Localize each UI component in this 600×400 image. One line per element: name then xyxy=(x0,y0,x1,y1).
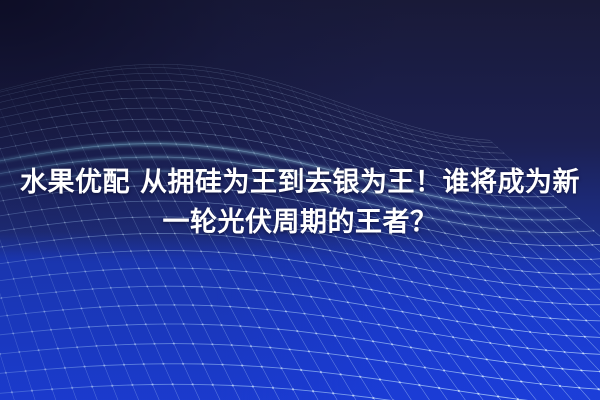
page-title: 水果优配 从拥硅为王到去银为王！谁将成为新一轮光伏周期的王者？ xyxy=(0,163,600,243)
banner-image: 水果优配 从拥硅为王到去银为王！谁将成为新一轮光伏周期的王者？ xyxy=(0,0,600,400)
